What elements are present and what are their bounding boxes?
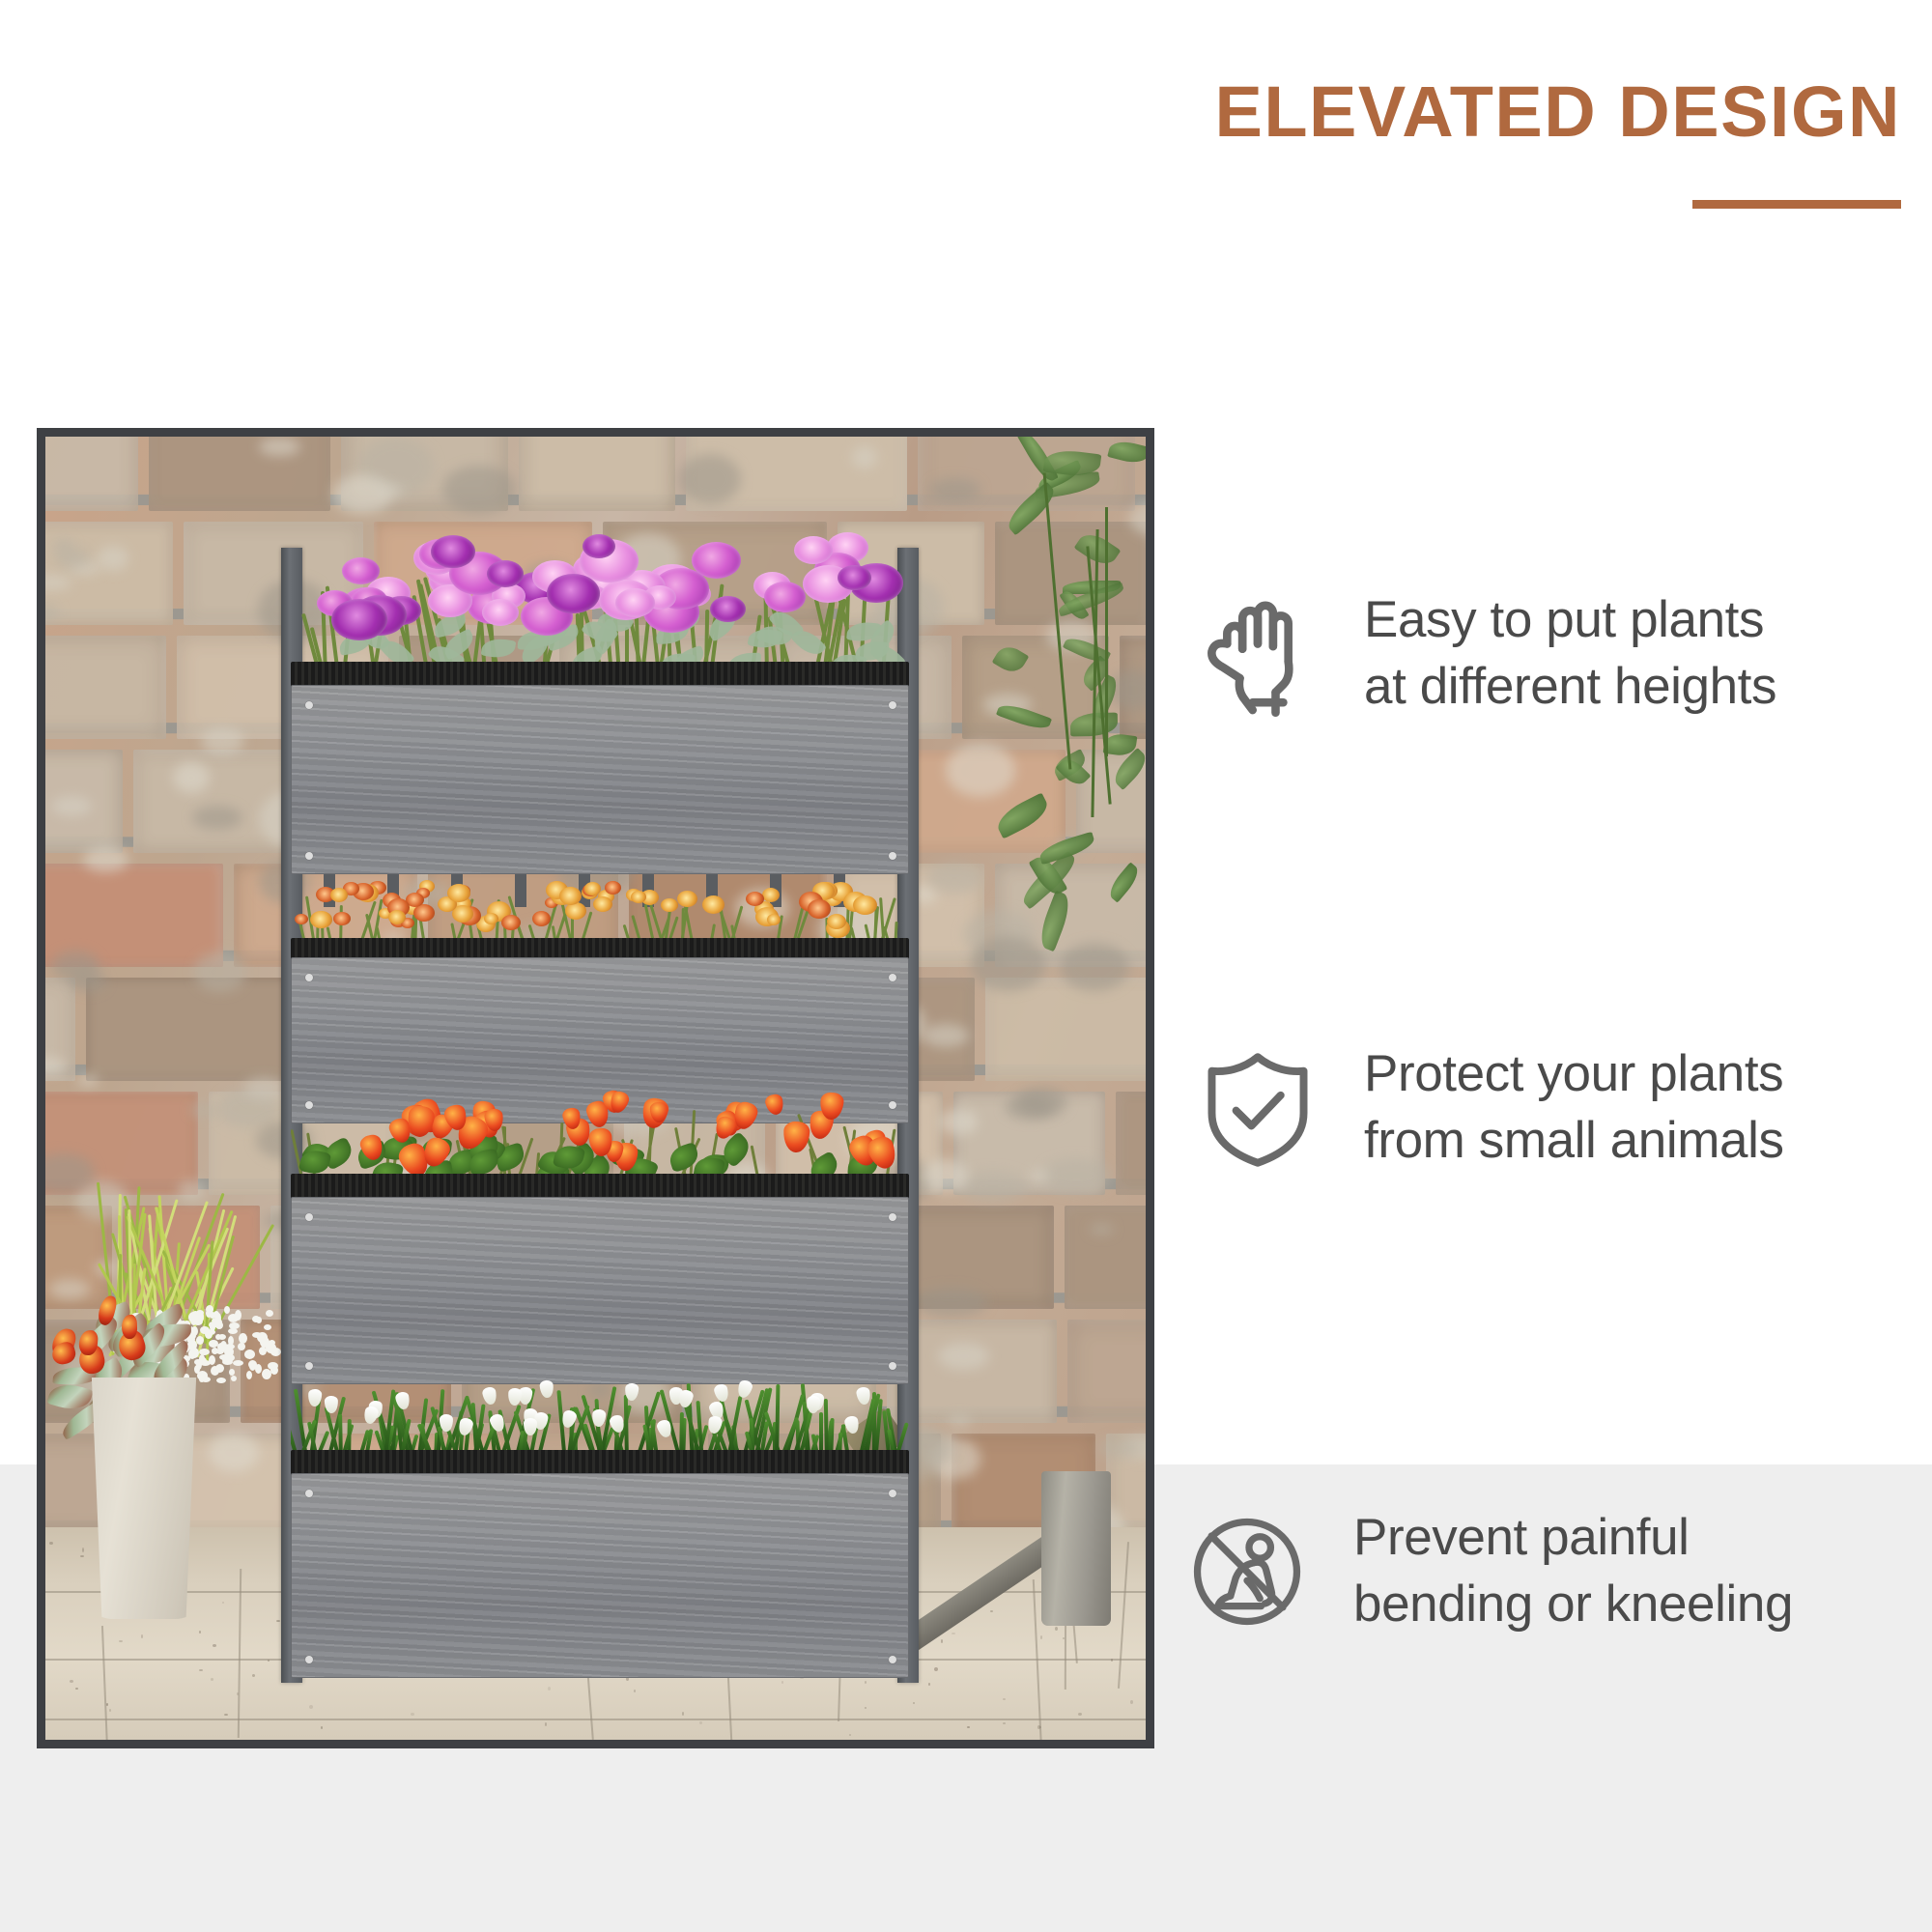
floor-speck [411, 1713, 414, 1716]
floor-speck [80, 1555, 84, 1557]
brick [45, 522, 173, 625]
floor-speck [1003, 1722, 1006, 1724]
panel-screw [305, 1213, 313, 1221]
floor-speck [224, 1714, 228, 1716]
wall-weathering [332, 475, 392, 514]
wall-weathering [442, 466, 515, 514]
verbena-flower-cluster [487, 560, 524, 587]
panel-screw [305, 1656, 313, 1663]
floor-speck [49, 1542, 53, 1545]
wall-weathering [852, 446, 877, 469]
daisy-flower [853, 895, 877, 915]
babys-breath-floret [228, 1314, 239, 1322]
floor-speck [213, 1644, 216, 1647]
verbena-flower-cluster [431, 535, 475, 568]
babys-breath-floret [199, 1349, 210, 1355]
strawberry-fruit [782, 1121, 810, 1152]
brick [45, 437, 138, 511]
floor-joint [101, 1626, 111, 1740]
planter-box-panel [291, 1197, 909, 1384]
panel-screw [889, 1213, 896, 1221]
floor-joint [45, 1719, 1146, 1720]
daisy-flower [808, 899, 831, 919]
wall-weathering [1090, 1224, 1113, 1235]
floor-speck [199, 1669, 203, 1671]
babys-breath-floret [270, 1348, 281, 1356]
floor-speck [70, 1680, 73, 1683]
panel-screw [889, 1490, 896, 1497]
red-bloom [122, 1315, 138, 1340]
brick [149, 437, 330, 511]
wall-weathering [190, 1104, 216, 1116]
panel-screw [889, 852, 896, 860]
foliage-leaf [481, 636, 517, 660]
snowdrop-flower [856, 1386, 872, 1406]
babys-breath-floret [216, 1378, 226, 1383]
floor-joint [238, 1569, 241, 1738]
feature-text: Prevent painful bending or kneeling [1353, 1505, 1793, 1638]
wall-weathering [679, 454, 741, 504]
vine-leaf [992, 792, 1052, 838]
vine-leaf [1003, 482, 1061, 536]
verbena-flower-cluster [582, 534, 615, 558]
wall-weathering [915, 1288, 986, 1317]
wall-weathering [1017, 1088, 1067, 1117]
babys-breath-floret [212, 1318, 221, 1323]
panel-screw [305, 1490, 313, 1497]
floor-speck [941, 1639, 943, 1643]
daisy-flower [484, 913, 498, 924]
verbena-flower-cluster [482, 599, 519, 626]
wall-weathering [259, 438, 300, 456]
snowdrop-flower [362, 1406, 380, 1426]
babys-breath-floret [196, 1336, 204, 1345]
wall-weathering [55, 547, 90, 569]
feature-text: Protect your plants from small animals [1364, 1041, 1784, 1175]
wall-weathering [923, 1024, 969, 1047]
snowdrop-flower [677, 1389, 694, 1409]
panel-screw [305, 1362, 313, 1370]
feature-text: Easy to put plants at different heights [1364, 587, 1776, 721]
floor-speck [682, 1712, 684, 1716]
shield-check-icon [1194, 1044, 1321, 1172]
wall-weathering [971, 937, 1045, 992]
floor-speck [1130, 1700, 1133, 1704]
verbena-flower-cluster [764, 582, 806, 612]
feature-item-protect-your-plants: Protect your plants from small animals [1194, 1041, 1784, 1175]
galvanized-watering-can [1041, 1471, 1111, 1626]
brick [45, 636, 166, 739]
babys-breath-floret [264, 1324, 271, 1330]
floor-speck [82, 1549, 84, 1552]
climbing-vine [981, 437, 1146, 939]
daisy-flower [746, 892, 764, 906]
wall-weathering [939, 1109, 978, 1135]
floor-speck [106, 1703, 108, 1706]
babys-breath-floret [209, 1340, 218, 1348]
babys-breath-floret [217, 1343, 225, 1351]
verbena-flower-cluster [547, 574, 600, 613]
floor-speck [309, 1705, 313, 1709]
elevated-raised-garden-bed [281, 548, 919, 1683]
daisy-flower [661, 898, 678, 912]
panel-screw [889, 701, 896, 709]
vine-leaf [1107, 438, 1146, 466]
photo-content [45, 437, 1146, 1740]
floor-speck [1055, 1627, 1058, 1631]
floor-speck [934, 1667, 938, 1671]
daisy-flower [559, 887, 582, 905]
verbena-flower-cluster [692, 542, 741, 579]
floor-speck [75, 1688, 78, 1690]
daisy-flower [388, 910, 406, 924]
planter-box-panel [291, 1473, 909, 1678]
open-hand-icon [1194, 590, 1321, 718]
wall-weathering [929, 478, 980, 501]
wall-weathering [948, 1415, 971, 1427]
floor-speck [268, 1660, 270, 1662]
daisy-flower [677, 891, 697, 907]
vine-leaf [996, 700, 1052, 733]
verbena-flower-cluster [615, 588, 655, 617]
babys-breath-floret [246, 1371, 252, 1379]
headline-underline-rule [1692, 200, 1901, 209]
floor-speck [1111, 1659, 1113, 1662]
floor-speck [141, 1634, 143, 1638]
babys-breath-floret [269, 1340, 275, 1346]
tier-plants [291, 1081, 909, 1187]
babys-breath-floret [228, 1336, 234, 1346]
babys-breath-floret [238, 1343, 245, 1350]
no-kneeling-icon [1183, 1508, 1311, 1635]
floor-speck [849, 1734, 851, 1736]
daisy-flower [330, 888, 348, 902]
wall-weathering [52, 951, 99, 980]
panel-screw [305, 974, 313, 981]
snowdrop-flower [481, 1386, 497, 1406]
wall-weathering [201, 727, 244, 755]
vine-leaf [1105, 862, 1143, 902]
floor-speck [865, 1707, 867, 1709]
floor-speck [634, 1690, 636, 1692]
daisy-flower [310, 911, 332, 928]
daisy-flower [333, 912, 351, 925]
daisy-flower [593, 896, 612, 912]
babys-breath-floret [215, 1364, 224, 1373]
verbena-flower-cluster [331, 599, 387, 640]
feature-line-2: from small animals [1364, 1108, 1784, 1175]
babys-breath-floret [268, 1362, 278, 1370]
wall-weathering [927, 863, 982, 894]
babys-breath-floret [256, 1317, 262, 1323]
babys-breath-floret [218, 1334, 226, 1340]
babys-breath-floret [255, 1364, 262, 1374]
wall-weathering [959, 1171, 1028, 1202]
feature-line-1: Prevent painful [1353, 1509, 1690, 1566]
wall-weathering [1041, 1158, 1112, 1193]
feature-line-1: Protect your plants [1364, 1045, 1783, 1102]
product-photo [37, 428, 1154, 1748]
feature-item-prevent-painful-bending: Prevent painful bending or kneeling [1183, 1505, 1793, 1638]
babys-breath-floret [244, 1350, 255, 1359]
daisy-flower [447, 884, 470, 902]
wall-weathering [83, 847, 128, 873]
wall-weathering [51, 796, 92, 816]
babys-breath-floret [200, 1326, 210, 1334]
floor-speck [699, 1721, 702, 1724]
wall-weathering [382, 485, 404, 496]
floor-speck [928, 1683, 930, 1686]
floor-speck [119, 1640, 123, 1642]
babys-breath-floret [188, 1336, 195, 1343]
verbena-flower-cluster [342, 557, 380, 584]
daisy-flower [295, 914, 308, 924]
wall-weathering [923, 1159, 967, 1192]
verbena-flower-cluster [794, 536, 833, 564]
brick [1067, 1320, 1146, 1423]
snowdrop-flower [806, 1396, 820, 1414]
panel-screw [305, 701, 313, 709]
floor-joint [1118, 1542, 1129, 1689]
feature-item-easy-to-put-plants: Easy to put plants at different heights [1194, 587, 1776, 721]
panel-screw [889, 1362, 896, 1370]
babys-breath-floret [222, 1359, 233, 1365]
daisy-flower [827, 914, 846, 929]
wall-weathering [194, 952, 246, 992]
wall-weathering [938, 1343, 989, 1369]
floor-speck [252, 1674, 255, 1677]
daisy-flower [767, 914, 781, 925]
snowdrop-flower [624, 1383, 639, 1402]
babys-breath-floret [200, 1360, 211, 1366]
planter-box-panel [291, 685, 909, 874]
babys-breath-floret [224, 1306, 230, 1314]
wall-weathering [209, 1433, 259, 1472]
wall-weathering [77, 1075, 99, 1086]
snowdrop-flower [440, 1414, 453, 1432]
tier-plants [291, 530, 909, 675]
floor-speck [1078, 1713, 1082, 1716]
wall-weathering [1098, 1438, 1140, 1458]
strawberry-fruit [764, 1093, 786, 1117]
floor-speck [321, 1726, 323, 1729]
babys-breath-floret [229, 1322, 240, 1329]
panel-screw [889, 974, 896, 981]
wall-weathering [173, 762, 209, 793]
daisy-flower [605, 881, 621, 895]
floor-speck [222, 1602, 224, 1604]
feature-line-2: at different heights [1364, 654, 1776, 721]
babys-breath-floret [231, 1376, 237, 1381]
babys-breath-floret [249, 1361, 256, 1371]
brick [1116, 1092, 1146, 1195]
babys-breath-floret [233, 1360, 243, 1366]
snowdrop-flower [713, 1383, 730, 1404]
page-title: ELEVATED DESIGN [819, 75, 1901, 150]
floor-speck [109, 1709, 111, 1712]
floor-speck [952, 1633, 955, 1634]
vine-stem [1105, 507, 1108, 756]
babys-breath-floret [191, 1311, 200, 1320]
daisy-flower [702, 895, 724, 914]
headline-block: ELEVATED DESIGN [819, 75, 1901, 209]
panel-screw [889, 1656, 896, 1663]
brick [519, 437, 675, 511]
panel-screw [305, 852, 313, 860]
daisy-flower [501, 915, 521, 930]
floor-speck [545, 1722, 547, 1726]
daisy-flower [532, 911, 551, 926]
floor-speck [1040, 1635, 1042, 1639]
daisy-flower [631, 891, 646, 903]
snowdrop-flower [539, 1379, 554, 1398]
babys-breath-floret [260, 1337, 270, 1348]
babys-breath-floret [259, 1347, 267, 1355]
wall-weathering [1060, 943, 1129, 991]
floor-speck [1003, 1698, 1006, 1700]
floor-speck [990, 1610, 993, 1612]
floor-speck [913, 1702, 915, 1704]
floor-speck [548, 1687, 551, 1690]
babys-breath-floret [266, 1310, 273, 1317]
feature-line-1: Easy to put plants [1364, 591, 1764, 648]
floor-speck [199, 1631, 201, 1634]
snowdrop-flower [507, 1388, 522, 1406]
verbena-flower-cluster [710, 596, 746, 622]
babys-breath-floret [229, 1369, 235, 1376]
floor-speck [967, 1726, 970, 1728]
snowdrop-flower [591, 1409, 606, 1428]
brick [985, 978, 1146, 1081]
babys-breath-floret [206, 1305, 213, 1314]
feature-line-2: bending or kneeling [1353, 1572, 1793, 1638]
daisy-flower [762, 888, 780, 902]
babys-breath-floret [199, 1377, 205, 1382]
snowdrop-flower [325, 1396, 339, 1413]
brick [1065, 1206, 1146, 1309]
vine-leaf [992, 641, 1030, 677]
babys-breath-floret [252, 1332, 262, 1338]
wall-weathering [1030, 1170, 1049, 1181]
verbena-flower-cluster [838, 565, 871, 590]
floor-speck [276, 1620, 280, 1622]
floor-speck [211, 1678, 213, 1681]
